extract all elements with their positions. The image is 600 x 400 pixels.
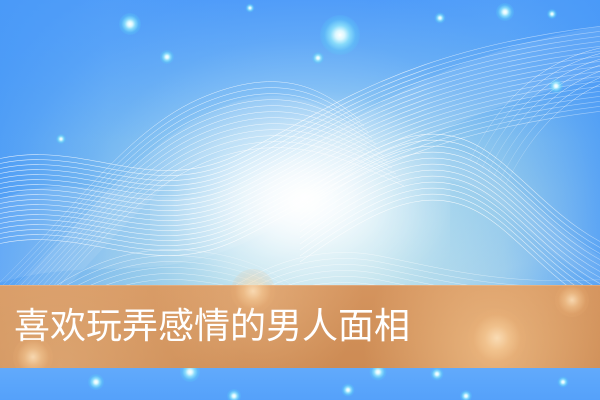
page-title: 喜欢玩弄感情的男人面相 [14, 309, 410, 345]
sparkle-dot [342, 384, 355, 397]
bottom-strip [0, 368, 600, 400]
sparkle-dot [246, 4, 255, 13]
sparkle-dot [88, 374, 104, 390]
sparkle-dot [431, 368, 444, 381]
warm-sparkle-dot [231, 269, 275, 313]
sparkle-dot [312, 52, 324, 64]
sparkle-dot [160, 50, 174, 64]
sparkle-dot [56, 134, 66, 144]
sparkle-dot [460, 390, 472, 400]
sparkle-dot [547, 9, 557, 19]
image-canvas: 喜欢玩弄感情的男人面相 [0, 0, 600, 400]
sparkle-dot [119, 13, 141, 35]
warm-sparkle-dot [468, 309, 526, 367]
sparkle-dot [320, 15, 360, 55]
sparkle-dot [227, 389, 241, 400]
sparkle-dot [549, 79, 563, 93]
sparkle-dot [180, 368, 200, 382]
sparkle-dot [370, 368, 387, 381]
sparkle-dot [558, 377, 569, 388]
sparkle-dot [435, 13, 446, 24]
warm-sparkle-dot [555, 283, 589, 317]
sparkle-dot [496, 3, 514, 21]
banner-top-highlight [0, 285, 600, 286]
